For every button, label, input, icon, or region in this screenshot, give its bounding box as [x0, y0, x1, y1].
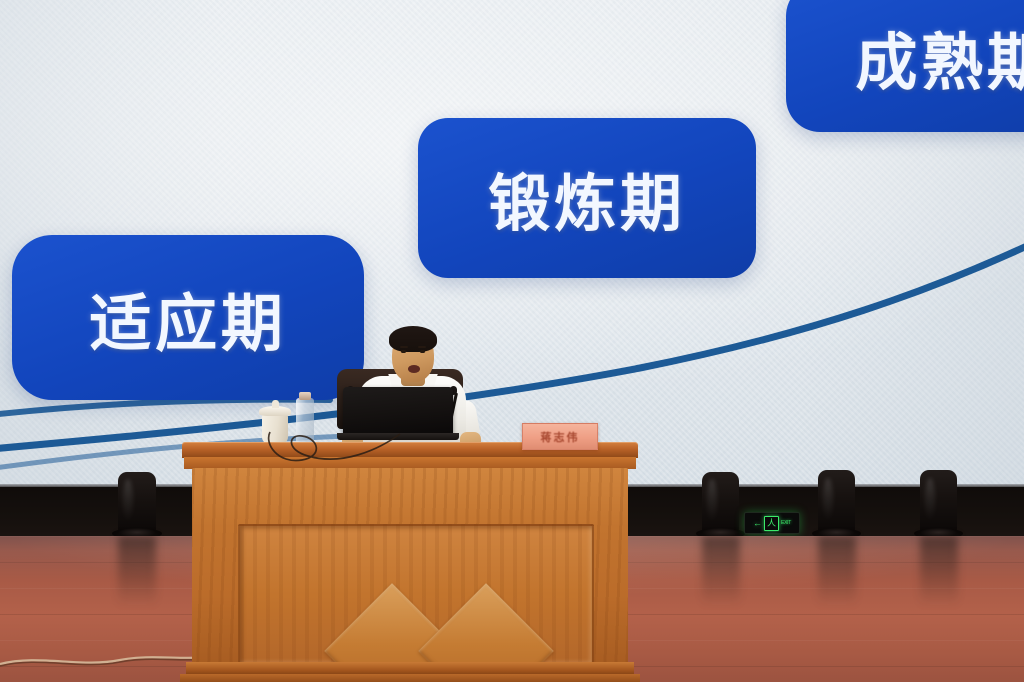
- monitor-floor-reflection: [702, 536, 740, 606]
- laptop: [343, 387, 453, 435]
- exit-label: EXIT: [781, 520, 791, 526]
- running-man-icon: 人: [764, 516, 779, 531]
- stage-monitor-speaker: [702, 472, 739, 534]
- monitor-floor-reflection: [118, 536, 156, 606]
- monitor-floor-reflection: [920, 536, 958, 606]
- slide-badge-stage-3: 成熟期: [786, 0, 1024, 132]
- presenter-hair: [389, 326, 437, 352]
- slide-badge-stage-1: 适应期: [12, 235, 364, 400]
- presenter-mouth: [408, 365, 420, 373]
- presenter-eyebrow-left: [400, 346, 408, 348]
- podium-base-plinth: [180, 674, 640, 682]
- desk-cable: [262, 430, 402, 472]
- projection-screen: 适应期 锻炼期 成熟期: [0, 0, 1024, 490]
- presenter-eye-left: [401, 350, 406, 353]
- water-bottle-cap: [299, 392, 311, 400]
- slide-badge-label: 适应期: [89, 273, 286, 363]
- monitor-floor-reflection: [818, 536, 856, 606]
- presenter-eyebrow-right: [418, 346, 426, 348]
- nameplate-text: 蒋志伟: [541, 429, 580, 445]
- slide-badge-label: 锻炼期: [488, 153, 685, 243]
- podium-recessed-panel: [238, 524, 594, 666]
- emergency-exit-sign: ← 人 EXIT: [744, 512, 800, 534]
- tea-cup-knob: [272, 400, 279, 408]
- presenter-nameplate: 蒋志伟: [522, 423, 598, 450]
- podium-front-body: [192, 468, 628, 664]
- exit-arrow-icon: ←: [753, 519, 762, 528]
- stage-monitor-speaker: [818, 470, 855, 534]
- slide-badge-label: 成熟期: [855, 12, 1024, 102]
- screenshot-root: 适应期 锻炼期 成熟期 ← 人 EXIT: [0, 0, 1024, 682]
- podium: [186, 442, 634, 682]
- floor-cable: [0, 648, 210, 670]
- slide-badge-stage-2: 锻炼期: [418, 118, 756, 278]
- presenter-eye-right: [420, 350, 425, 353]
- stage-monitor-speaker: [118, 472, 156, 534]
- stage-monitor-speaker: [920, 470, 957, 534]
